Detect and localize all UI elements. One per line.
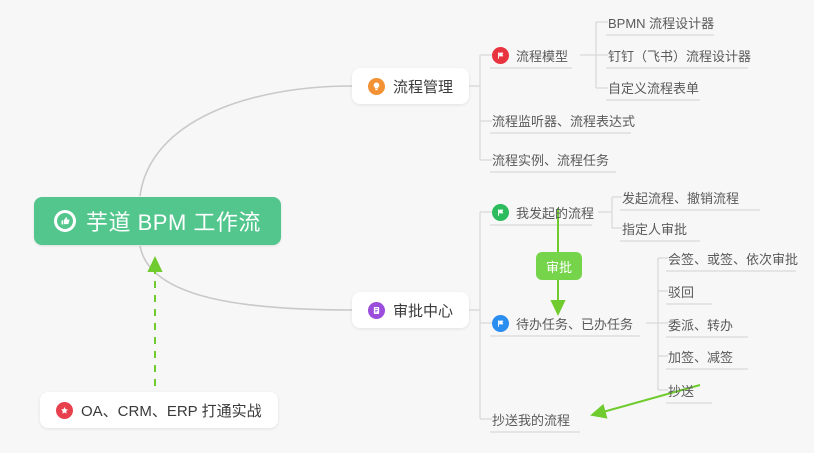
node-label-cc-to-me: 抄送我的流程	[492, 410, 570, 429]
node-delegate-transfer[interactable]: 委派、转办	[668, 311, 733, 337]
node-label-delegate-transfer: 委派、转办	[668, 315, 733, 334]
node-label-dingtalk-feishu-designer: 钉钉（飞书）流程设计器	[608, 46, 751, 65]
node-instance-task[interactable]: 流程实例、流程任务	[492, 146, 609, 172]
node-label-assignee-approval: 指定人审批	[622, 219, 687, 238]
node-label-my-initiated: 我发起的流程	[516, 203, 594, 222]
node-assignee-approval[interactable]: 指定人审批	[622, 215, 687, 241]
node-reject[interactable]: 驳回	[668, 278, 694, 304]
root-node[interactable]: 芋道 BPM 工作流	[34, 197, 281, 245]
node-label-reject: 驳回	[668, 282, 694, 301]
node-cc[interactable]: 抄送	[668, 377, 694, 403]
node-bpmn-designer[interactable]: BPMN 流程设计器	[608, 9, 714, 35]
node-add-remove-sign[interactable]: 加签、减签	[668, 343, 733, 369]
node-custom-process-form[interactable]: 自定义流程表单	[608, 74, 699, 100]
node-label-instance-task: 流程实例、流程任务	[492, 150, 609, 169]
node-label-todo-done-tasks: 待办任务、已办任务	[516, 314, 633, 333]
node-label-custom-process-form: 自定义流程表单	[608, 78, 699, 97]
node-label-multi-sign: 会签、或签、依次审批	[668, 249, 798, 268]
node-label-listener-expression: 流程监听器、流程表达式	[492, 111, 635, 130]
branch-node-approval-center[interactable]: 审批中心	[352, 292, 469, 328]
node-dingtalk-feishu-designer[interactable]: 钉钉（飞书）流程设计器	[608, 42, 751, 68]
node-multi-sign[interactable]: 会签、或签、依次审批	[668, 245, 798, 271]
approval-badge[interactable]: 审批	[536, 252, 582, 280]
integration-note-card[interactable]: OA、CRM、ERP 打通实战	[40, 392, 278, 428]
clipboard-icon	[368, 302, 385, 319]
node-process-model[interactable]: 流程模型	[492, 42, 568, 68]
root-label: 芋道 BPM 工作流	[86, 205, 261, 237]
thumbs-up-icon	[54, 210, 76, 232]
mindmap-canvas: 芋道 BPM 工作流 流程管理 审批中心	[0, 0, 814, 453]
node-label-start-cancel: 发起流程、撤销流程	[622, 188, 739, 207]
lightbulb-icon	[368, 78, 385, 95]
node-todo-done-tasks[interactable]: 待办任务、已办任务	[492, 310, 633, 336]
star-icon	[56, 402, 73, 419]
flag-icon	[492, 47, 509, 64]
node-label-cc: 抄送	[668, 381, 694, 400]
node-label-process-model: 流程模型	[516, 46, 568, 65]
node-listener-expression[interactable]: 流程监听器、流程表达式	[492, 107, 635, 133]
integration-note-label: OA、CRM、ERP 打通实战	[81, 400, 262, 421]
flag-icon	[492, 315, 509, 332]
node-label-bpmn-designer: BPMN 流程设计器	[608, 13, 714, 32]
branch-node-process-management[interactable]: 流程管理	[352, 68, 469, 104]
node-my-initiated[interactable]: 我发起的流程	[492, 199, 594, 225]
node-label-add-remove-sign: 加签、减签	[668, 347, 733, 366]
node-cc-to-me[interactable]: 抄送我的流程	[492, 406, 570, 432]
flag-icon	[492, 204, 509, 221]
branch-label-process-management: 流程管理	[393, 76, 453, 97]
branch-label-approval-center: 审批中心	[393, 300, 453, 321]
approval-badge-label: 审批	[546, 257, 572, 276]
node-start-cancel[interactable]: 发起流程、撤销流程	[622, 184, 739, 210]
